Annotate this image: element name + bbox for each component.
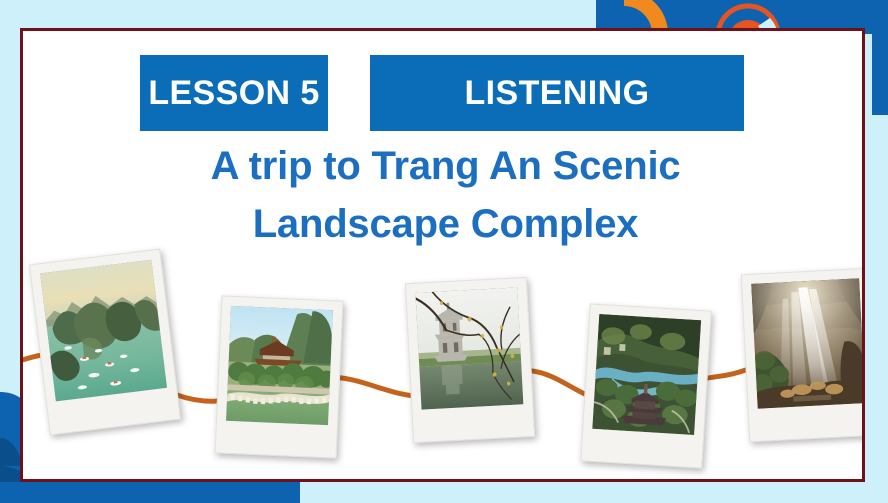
polaroid-card[interactable] <box>29 249 181 436</box>
polaroid-card[interactable] <box>580 303 711 468</box>
photo-aerial-temple-complex <box>592 314 701 435</box>
polaroid-card[interactable] <box>405 277 535 443</box>
photo-ha-long-bay-karsts <box>40 260 167 402</box>
photo-turtle-tower-hoan-kiem <box>415 287 523 409</box>
photo-strip <box>23 31 865 482</box>
slide-card: LESSON 5 LISTENING A trip to Trang An Sc… <box>20 28 865 482</box>
polaroid-card[interactable] <box>741 268 865 442</box>
bottom-blue-band <box>0 482 300 503</box>
photo-cave-light-beams <box>751 278 865 408</box>
slide-root: LESSON 5 LISTENING A trip to Trang An Sc… <box>0 0 888 503</box>
polaroid-card[interactable] <box>215 295 344 458</box>
photo-temple-and-hills <box>226 306 333 425</box>
